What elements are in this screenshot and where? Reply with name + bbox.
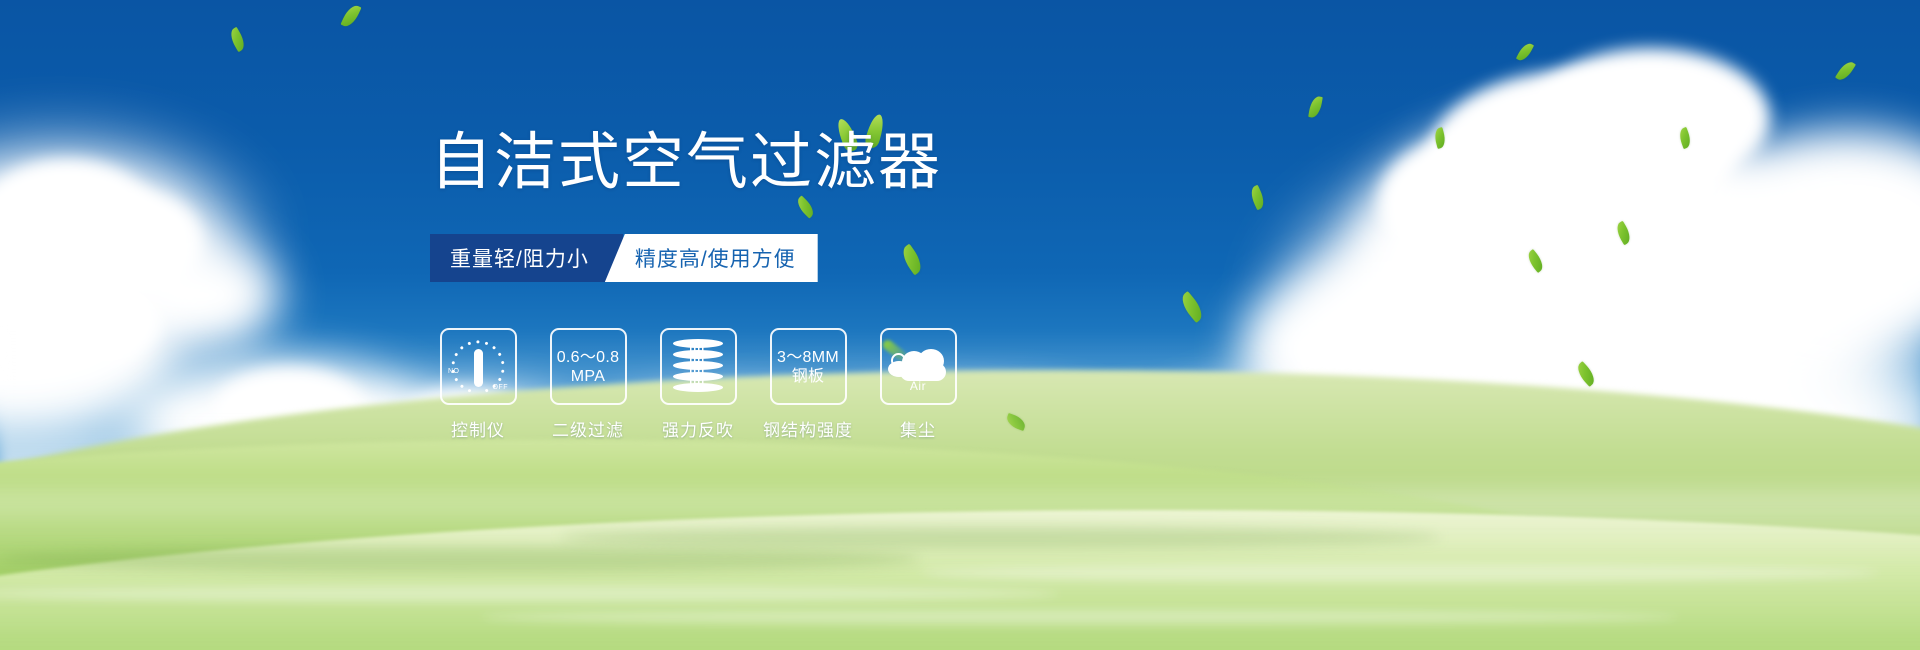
air-cloud-icon: Air <box>888 343 948 391</box>
badge-secondary: 精度高/使用方便 <box>605 234 818 282</box>
feature-item-steel: 3～8MM 钢板 钢结构强度 <box>766 328 850 441</box>
control-dial-icon: NO OFF <box>447 338 509 396</box>
steel-material: 钢板 <box>777 367 839 386</box>
badge-primary: 重量轻/阻力小 <box>430 234 623 282</box>
steel-thickness: 3～8MM <box>777 348 839 367</box>
feature-box-pressure: 0.6～0.8 MPA <box>550 328 627 405</box>
feature-label-dust: 集尘 <box>900 416 936 441</box>
feature-item-pressure: 0.6～0.8 MPA 二级过滤 <box>546 328 630 441</box>
feature-badge-bar: 重量轻/阻力小 精度高/使用方便 <box>430 234 818 282</box>
feature-label-steel: 钢结构强度 <box>763 416 853 441</box>
feature-box-blowback <box>660 328 737 405</box>
feature-box-steel: 3～8MM 钢板 <box>770 328 847 405</box>
air-label: Air <box>888 379 948 393</box>
feature-box-dust: Air <box>880 328 957 405</box>
feature-label-blowback: 强力反吹 <box>662 416 734 441</box>
feature-label-pressure: 二级过滤 <box>552 416 624 441</box>
feature-item-control: NO OFF <box>436 328 520 441</box>
feature-box-control: NO OFF <box>440 328 517 405</box>
feature-item-blowback: 强力反吹 <box>656 328 740 441</box>
pressure-value: 0.6～0.8 <box>557 348 620 367</box>
feature-icon-row: NO OFF <box>436 328 960 441</box>
feature-item-dust: Air 集尘 <box>876 328 960 441</box>
filter-stack-icon <box>673 339 723 395</box>
steel-plate-text-icon: 3～8MM 钢板 <box>777 348 839 386</box>
banner-title: 自洁式空气过滤器 <box>430 128 942 198</box>
pressure-text-icon: 0.6～0.8 MPA <box>557 348 620 386</box>
pressure-unit: MPA <box>557 367 620 386</box>
feature-label-control: 控制仪 <box>451 416 505 441</box>
product-hero-banner: 自洁式空气过滤器 重量轻/阻力小 精度高/使用方便 NO OFF <box>0 0 1920 650</box>
